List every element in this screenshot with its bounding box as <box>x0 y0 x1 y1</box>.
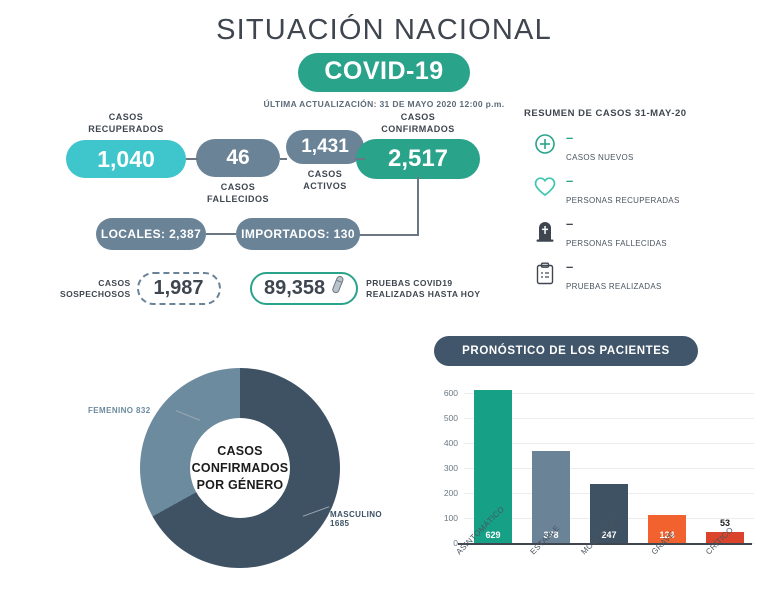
donut-center-label: CASOS CONFIRMADOS POR GÉNERO <box>190 418 290 518</box>
stat-activos-value: 1,431 <box>286 130 364 164</box>
bar-value-label: 629 <box>485 530 500 540</box>
stat-recuperados-caption: CASOS RECUPERADOS <box>66 112 186 135</box>
stat-pruebas: 89,358 PRUEBAS COVID19 REALIZADAS HASTA … <box>250 272 480 305</box>
y-axis: 0100200300400500600 <box>434 380 462 543</box>
caption-line-2: CONFIRMADOS <box>381 124 455 134</box>
stat-confirmados-value: 2,517 <box>356 139 480 179</box>
connector-line <box>206 233 236 235</box>
summary-value: – <box>566 218 667 230</box>
chart-plot-area: 0100200300400500600 62937824712453 ASINT… <box>434 380 754 585</box>
connector-line <box>280 158 287 160</box>
y-axis-tick: 400 <box>444 438 458 448</box>
summary-label: PERSONAS FALLECIDAS <box>566 239 667 248</box>
x-label-slot: ASINTOMÁTICO <box>464 548 522 608</box>
connector-line <box>186 158 198 160</box>
y-axis-tick: 500 <box>444 413 458 423</box>
x-label-slot: ESTABLE <box>522 548 580 608</box>
stat-activos-caption: CASOS ACTIVOS <box>286 169 364 192</box>
summary-item-pruebas-realizadas: – PRUEBAS REALIZADAS <box>524 260 754 291</box>
covid-badge: COVID-19 <box>298 53 469 92</box>
bar-slot: 378 <box>522 380 580 543</box>
caption-line-1: CASOS <box>401 112 436 122</box>
connector-line <box>355 158 365 160</box>
text-line-1: PRUEBAS COVID19 <box>366 278 452 288</box>
stat-sospechosos-label: CASOS SOSPECHOSOS <box>60 278 131 300</box>
stat-confirmados-caption: CASOS CONFIRMADOS <box>356 112 480 135</box>
x-label-slot: MODERADO <box>580 548 638 608</box>
stat-fallecidos-value: 46 <box>196 139 280 177</box>
summary-value: – <box>566 132 634 144</box>
test-tube-icon <box>331 275 344 303</box>
stat-importados: IMPORTADOS: 130 <box>236 218 360 250</box>
summary-value: – <box>566 175 680 187</box>
donut-title-line-2: CONFIRMADOS <box>192 460 289 477</box>
y-axis-tick: 200 <box>444 488 458 498</box>
summary-label: CASOS NUEVOS <box>566 153 634 162</box>
tombstone-icon <box>524 217 566 243</box>
stat-importados-value: IMPORTADOS: 130 <box>236 218 360 250</box>
stat-recuperados: CASOS RECUPERADOS 1,040 <box>66 112 186 178</box>
stat-fallecidos-caption: CASOS FALLECIDOS <box>196 182 280 205</box>
stat-locales: LOCALES: 2,387 <box>96 218 206 250</box>
stat-fallecidos: 46 CASOS FALLECIDOS <box>196 139 280 205</box>
donut-title-line-1: CASOS <box>217 443 262 460</box>
header: SITUACIÓN NACIONAL COVID-19 ÚLTIMA ACTUA… <box>0 0 768 109</box>
summary-panel-title: RESUMEN DE CASOS 31-MAY-20 <box>524 108 754 119</box>
x-label-slot: CRÍTICO <box>696 548 754 608</box>
summary-item-personas-fallecidas: – PERSONAS FALLECIDAS <box>524 217 754 248</box>
y-axis-tick: 600 <box>444 388 458 398</box>
x-label-slot: GRAVE <box>638 548 696 608</box>
stat-pruebas-text: PRUEBAS COVID19 REALIZADAS HASTA HOY <box>366 278 480 300</box>
summary-item-personas-recuperadas: – PERSONAS RECUPERADAS <box>524 174 754 205</box>
donut-label-masculino: MASCULINO 1685 <box>330 510 382 528</box>
stat-pruebas-value: 89,358 <box>264 277 325 300</box>
stat-locales-value: LOCALES: 2,387 <box>96 218 206 250</box>
stat-confirmados: CASOS CONFIRMADOS 2,517 <box>356 112 480 179</box>
summary-label: PRUEBAS REALIZADAS <box>566 282 662 291</box>
bar-slot: 124 <box>638 380 696 543</box>
y-axis-tick: 100 <box>444 513 458 523</box>
y-axis-tick: 300 <box>444 463 458 473</box>
summary-label: PERSONAS RECUPERADAS <box>566 196 680 205</box>
donut-label-femenino: FEMENINO 832 <box>88 406 151 415</box>
x-axis-labels: ASINTOMÁTICOESTABLEMODERADOGRAVECRÍTICO <box>464 548 754 608</box>
stat-sospechosos: CASOS SOSPECHOSOS 1,987 <box>60 272 221 305</box>
prognosis-bar-chart: PRONÓSTICO DE LOS PACIENTES 010020030040… <box>424 334 768 601</box>
donut-title-line-3: POR GÉNERO <box>197 477 284 494</box>
summary-panel: RESUMEN DE CASOS 31-MAY-20 – CASOS NUEVO… <box>524 108 754 303</box>
caption-line-2: RECUPERADOS <box>88 124 164 134</box>
caption-line-1: CASOS <box>109 112 144 122</box>
stat-pruebas-pill: 89,358 <box>250 272 358 305</box>
bar-slot: 53 <box>696 380 754 543</box>
gender-donut-chart: CASOS CONFIRMADOS POR GÉNERO FEMENINO 83… <box>140 368 340 568</box>
label-line-2: SOSPECHOSOS <box>60 289 131 299</box>
stat-sospechosos-value: 1,987 <box>137 272 221 305</box>
chart-title: PRONÓSTICO DE LOS PACIENTES <box>434 336 698 366</box>
caption-line-1: CASOS <box>308 169 343 179</box>
stat-activos: 1,431 CASOS ACTIVOS <box>286 130 364 192</box>
caption-line-2: ACTIVOS <box>303 181 347 191</box>
page-title: SITUACIÓN NACIONAL <box>0 14 768 47</box>
connector-line <box>417 177 419 236</box>
caption-line-1: CASOS <box>221 182 256 192</box>
clipboard-icon <box>524 260 566 286</box>
caption-line-2: FALLECIDOS <box>207 194 269 204</box>
summary-value: – <box>566 261 662 273</box>
connector-line <box>356 234 419 236</box>
plus-circle-icon <box>524 131 566 155</box>
summary-item-casos-nuevos: – CASOS NUEVOS <box>524 131 754 162</box>
label-line-1: CASOS <box>98 278 130 288</box>
text-line-2: REALIZADAS HASTA HOY <box>366 289 480 299</box>
heart-icon <box>524 174 566 198</box>
stat-recuperados-value: 1,040 <box>66 140 186 178</box>
